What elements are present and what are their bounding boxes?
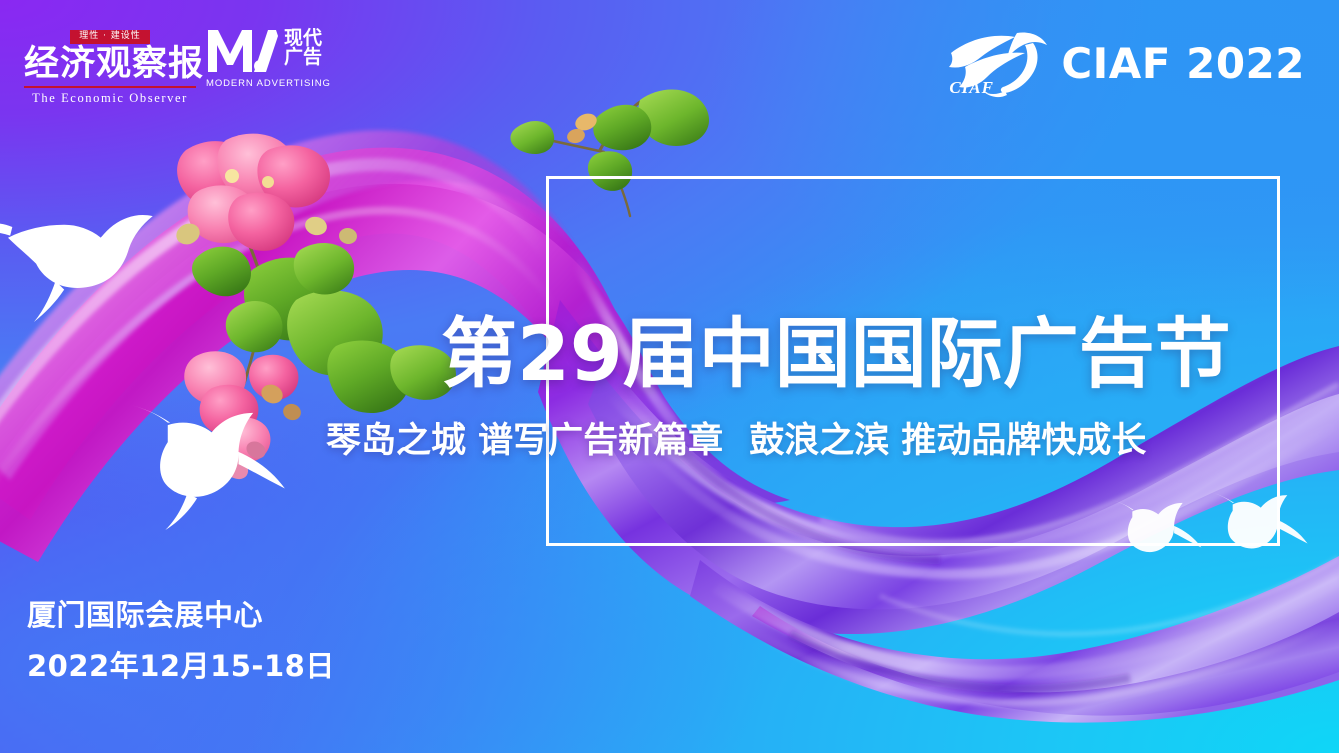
eeo-name-en: The Economic Observer xyxy=(24,92,196,105)
page-title: 第29届中国国际广告节 xyxy=(441,292,1231,402)
poster-banner: 理性 · 建设性 经济观察报 The Economic Observer 现代 … xyxy=(0,0,1339,753)
venue-name: 厦门国际会展中心 xyxy=(27,592,335,634)
ma-name-cn: 现代 广告 xyxy=(284,28,322,66)
ciaf-mark: CIAF xyxy=(947,27,1051,99)
eeo-name-cn: 经济观察报 xyxy=(24,47,196,82)
ciaf-mark-word: CIAF xyxy=(949,78,994,98)
ciaf-title: CIAF 2022 xyxy=(1061,39,1305,88)
eeo-divider xyxy=(24,86,196,88)
ma-name-cn-line2: 广告 xyxy=(284,48,322,67)
venue-block: 厦门国际会展中心 2022年12月15-18日 xyxy=(27,592,335,685)
economic-observer-logo: 理性 · 建设性 经济观察报 The Economic Observer xyxy=(24,26,196,105)
subtitle-left: 琴岛之城 谱写广告新篇章 xyxy=(326,421,723,461)
modern-advertising-logo: 现代 广告 MODERN ADVERTISING xyxy=(206,28,332,89)
subtitle: 琴岛之城 谱写广告新篇章鼓浪之滨 推动品牌快成长 xyxy=(326,412,1146,463)
subtitle-right: 鼓浪之滨 推动品牌快成长 xyxy=(749,421,1146,461)
eeo-tagline: 理性 · 建设性 xyxy=(70,30,150,44)
venue-date: 2022年12月15-18日 xyxy=(27,643,335,685)
ma-name-cn-line1: 现代 xyxy=(284,29,322,48)
ma-monogram-icon xyxy=(206,28,280,74)
ma-name-en: MODERN ADVERTISING xyxy=(206,78,332,89)
ciaf-logo: CIAF CIAF 2022 xyxy=(947,27,1305,99)
